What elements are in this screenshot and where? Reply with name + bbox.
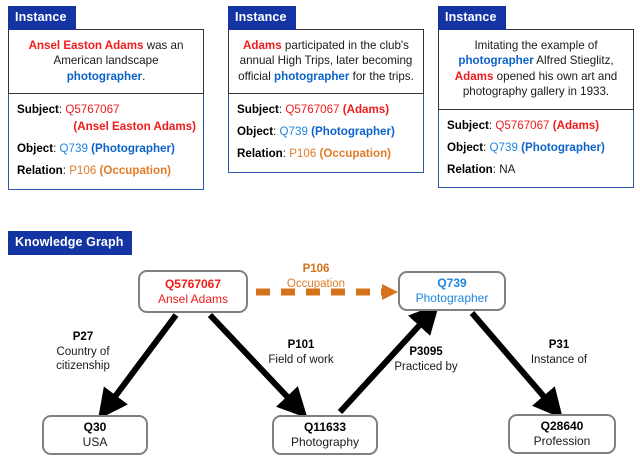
field-object: Object: Q739 (Photographer): [17, 141, 196, 158]
node-id: Q28640: [510, 419, 614, 434]
field-object: Object: Q739 (Photographer): [237, 124, 416, 141]
field-key: Relation: [447, 163, 493, 176]
field-id: Q5767067: [285, 103, 339, 116]
instance-badge: Instance: [228, 6, 296, 30]
field-id: P106: [69, 164, 96, 177]
instance-fields: Subject: Q5767067 (Adams) Object: Q739 (…: [438, 110, 634, 188]
field-key: Subject: [447, 119, 489, 132]
field-key: Object: [447, 141, 483, 154]
field-name: (Photographer): [521, 141, 605, 154]
edge-pid: P106: [268, 262, 364, 277]
sentence-subject-mention: Adams: [243, 39, 282, 52]
edge-name: Country of citizenship: [56, 346, 110, 373]
field-key: Object: [17, 142, 53, 155]
edge-pid: P27: [40, 330, 126, 345]
edge-p106-arrowhead: [382, 284, 398, 300]
field-object: Object: Q739 (Photographer): [447, 140, 626, 157]
field-relation: Relation: NA: [447, 162, 626, 179]
field-subject: Subject: Q5767067 (Ansel Easton Adams): [17, 102, 196, 136]
edge-name: Instance of: [531, 354, 587, 366]
field-key: Object: [237, 125, 273, 138]
node-label: Ansel Adams: [140, 292, 246, 307]
field-relation: Relation: P106 (Occupation): [237, 146, 416, 163]
node-label: Photographer: [400, 291, 504, 306]
edge-label-p106: P106 Occupation: [268, 262, 364, 291]
sentence-object-mention: photographer: [67, 70, 142, 83]
instance-fields: Subject: Q5767067 (Adams) Object: Q739 (…: [228, 94, 424, 172]
sentence-text: for the trips.: [349, 70, 413, 83]
edge-label-p101: P101 Field of work: [256, 338, 346, 367]
field-name: (Adams): [553, 119, 599, 132]
field-id: P106: [289, 147, 316, 160]
node-label: Profession: [510, 434, 614, 449]
instance-fields: Subject: Q5767067 (Ansel Easton Adams) O…: [8, 94, 204, 189]
field-id: Q5767067: [65, 103, 119, 116]
field-id: Q739: [490, 141, 518, 154]
instance-panel: Instance Imitating the example of photog…: [438, 6, 634, 188]
field-name: (Adams): [343, 103, 389, 116]
graph-node-q28640[interactable]: Q28640 Profession: [508, 414, 616, 454]
sentence-object-mention: photographer: [274, 70, 349, 83]
edge-name: Occupation: [287, 278, 345, 290]
instance-sentence: Adams participated in the club's annual …: [228, 29, 424, 95]
instance-badge: Instance: [438, 6, 506, 30]
node-id: Q739: [400, 276, 504, 291]
graph-node-q739[interactable]: Q739 Photographer: [398, 271, 506, 311]
field-id: Q739: [60, 142, 88, 155]
edge-name: Practiced by: [394, 361, 457, 373]
field-name: (Photographer): [91, 142, 175, 155]
field-name: (Photographer): [311, 125, 395, 138]
field-key: Subject: [237, 103, 279, 116]
sentence-object-mention: photographer: [458, 54, 533, 67]
sentence-text: Imitating the example of: [474, 39, 597, 52]
field-id: Q5767067: [495, 119, 549, 132]
field-name: (Occupation): [320, 147, 392, 160]
node-id: Q30: [44, 420, 146, 435]
graph-node-q11633[interactable]: Q11633 Photography: [272, 415, 378, 455]
field-subject: Subject: Q5767067 (Adams): [447, 118, 626, 135]
field-name: (Ansel Easton Adams): [17, 119, 196, 136]
edge-label-p27: P27 Country of citizenship: [40, 330, 126, 374]
sentence-text: Alfred Stieglitz,: [534, 54, 614, 67]
field-id: NA: [499, 163, 515, 176]
edge-name: Field of work: [268, 354, 333, 366]
edge-pid: P3095: [382, 345, 470, 360]
field-key: Subject: [17, 103, 59, 116]
sentence-subject-mention: Ansel Easton Adams: [29, 39, 144, 52]
field-key: Relation: [17, 164, 63, 177]
instance-sentence: Ansel Easton Adams was an American lands…: [8, 29, 204, 95]
edge-label-p3095: P3095 Practiced by: [382, 345, 470, 374]
edge-pid: P101: [256, 338, 346, 353]
node-label: USA: [44, 435, 146, 450]
field-relation: Relation: P106 (Occupation): [17, 163, 196, 180]
field-id: Q739: [280, 125, 308, 138]
graph-node-q5767067[interactable]: Q5767067 Ansel Adams: [138, 270, 248, 313]
graph-node-q30[interactable]: Q30 USA: [42, 415, 148, 455]
edge-label-p31: P31 Instance of: [516, 338, 602, 367]
sentence-text: .: [142, 70, 145, 83]
field-subject: Subject: Q5767067 (Adams): [237, 102, 416, 119]
node-id: Q11633: [274, 420, 376, 435]
node-id: Q5767067: [140, 277, 246, 292]
instance-sentence: Imitating the example of photographer Al…: [438, 29, 634, 111]
field-name: (Occupation): [100, 164, 172, 177]
instance-panel: Instance Adams participated in the club'…: [228, 6, 424, 173]
node-label: Photography: [274, 435, 376, 450]
sentence-subject-mention: Adams: [455, 70, 494, 83]
edge-pid: P31: [516, 338, 602, 353]
instance-badge: Instance: [8, 6, 76, 30]
field-key: Relation: [237, 147, 283, 160]
instance-panel: Instance Ansel Easton Adams was an Ameri…: [8, 6, 204, 190]
